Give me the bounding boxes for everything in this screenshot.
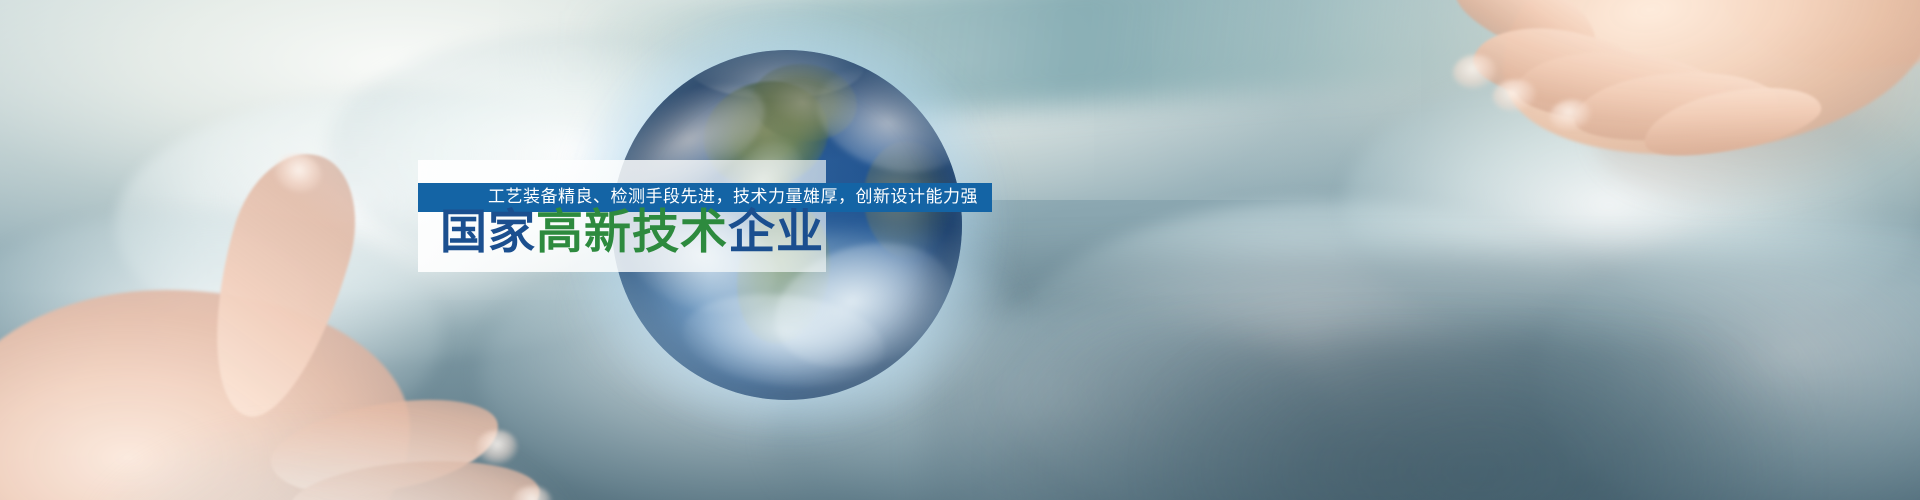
headline-segment-1: 国家 — [440, 205, 536, 260]
headline-segment-3: 企业 — [728, 205, 824, 260]
hand-bottom-mist — [90, 420, 570, 500]
hero-banner: 工艺装备精良、检测手段先进，技术力量雄厚，创新设计能力强 国家高新技术企业 — [0, 0, 1920, 500]
headline-segment-2: 高新技术 — [536, 205, 728, 260]
page-headline: 国家高新技术企业 — [440, 206, 824, 260]
